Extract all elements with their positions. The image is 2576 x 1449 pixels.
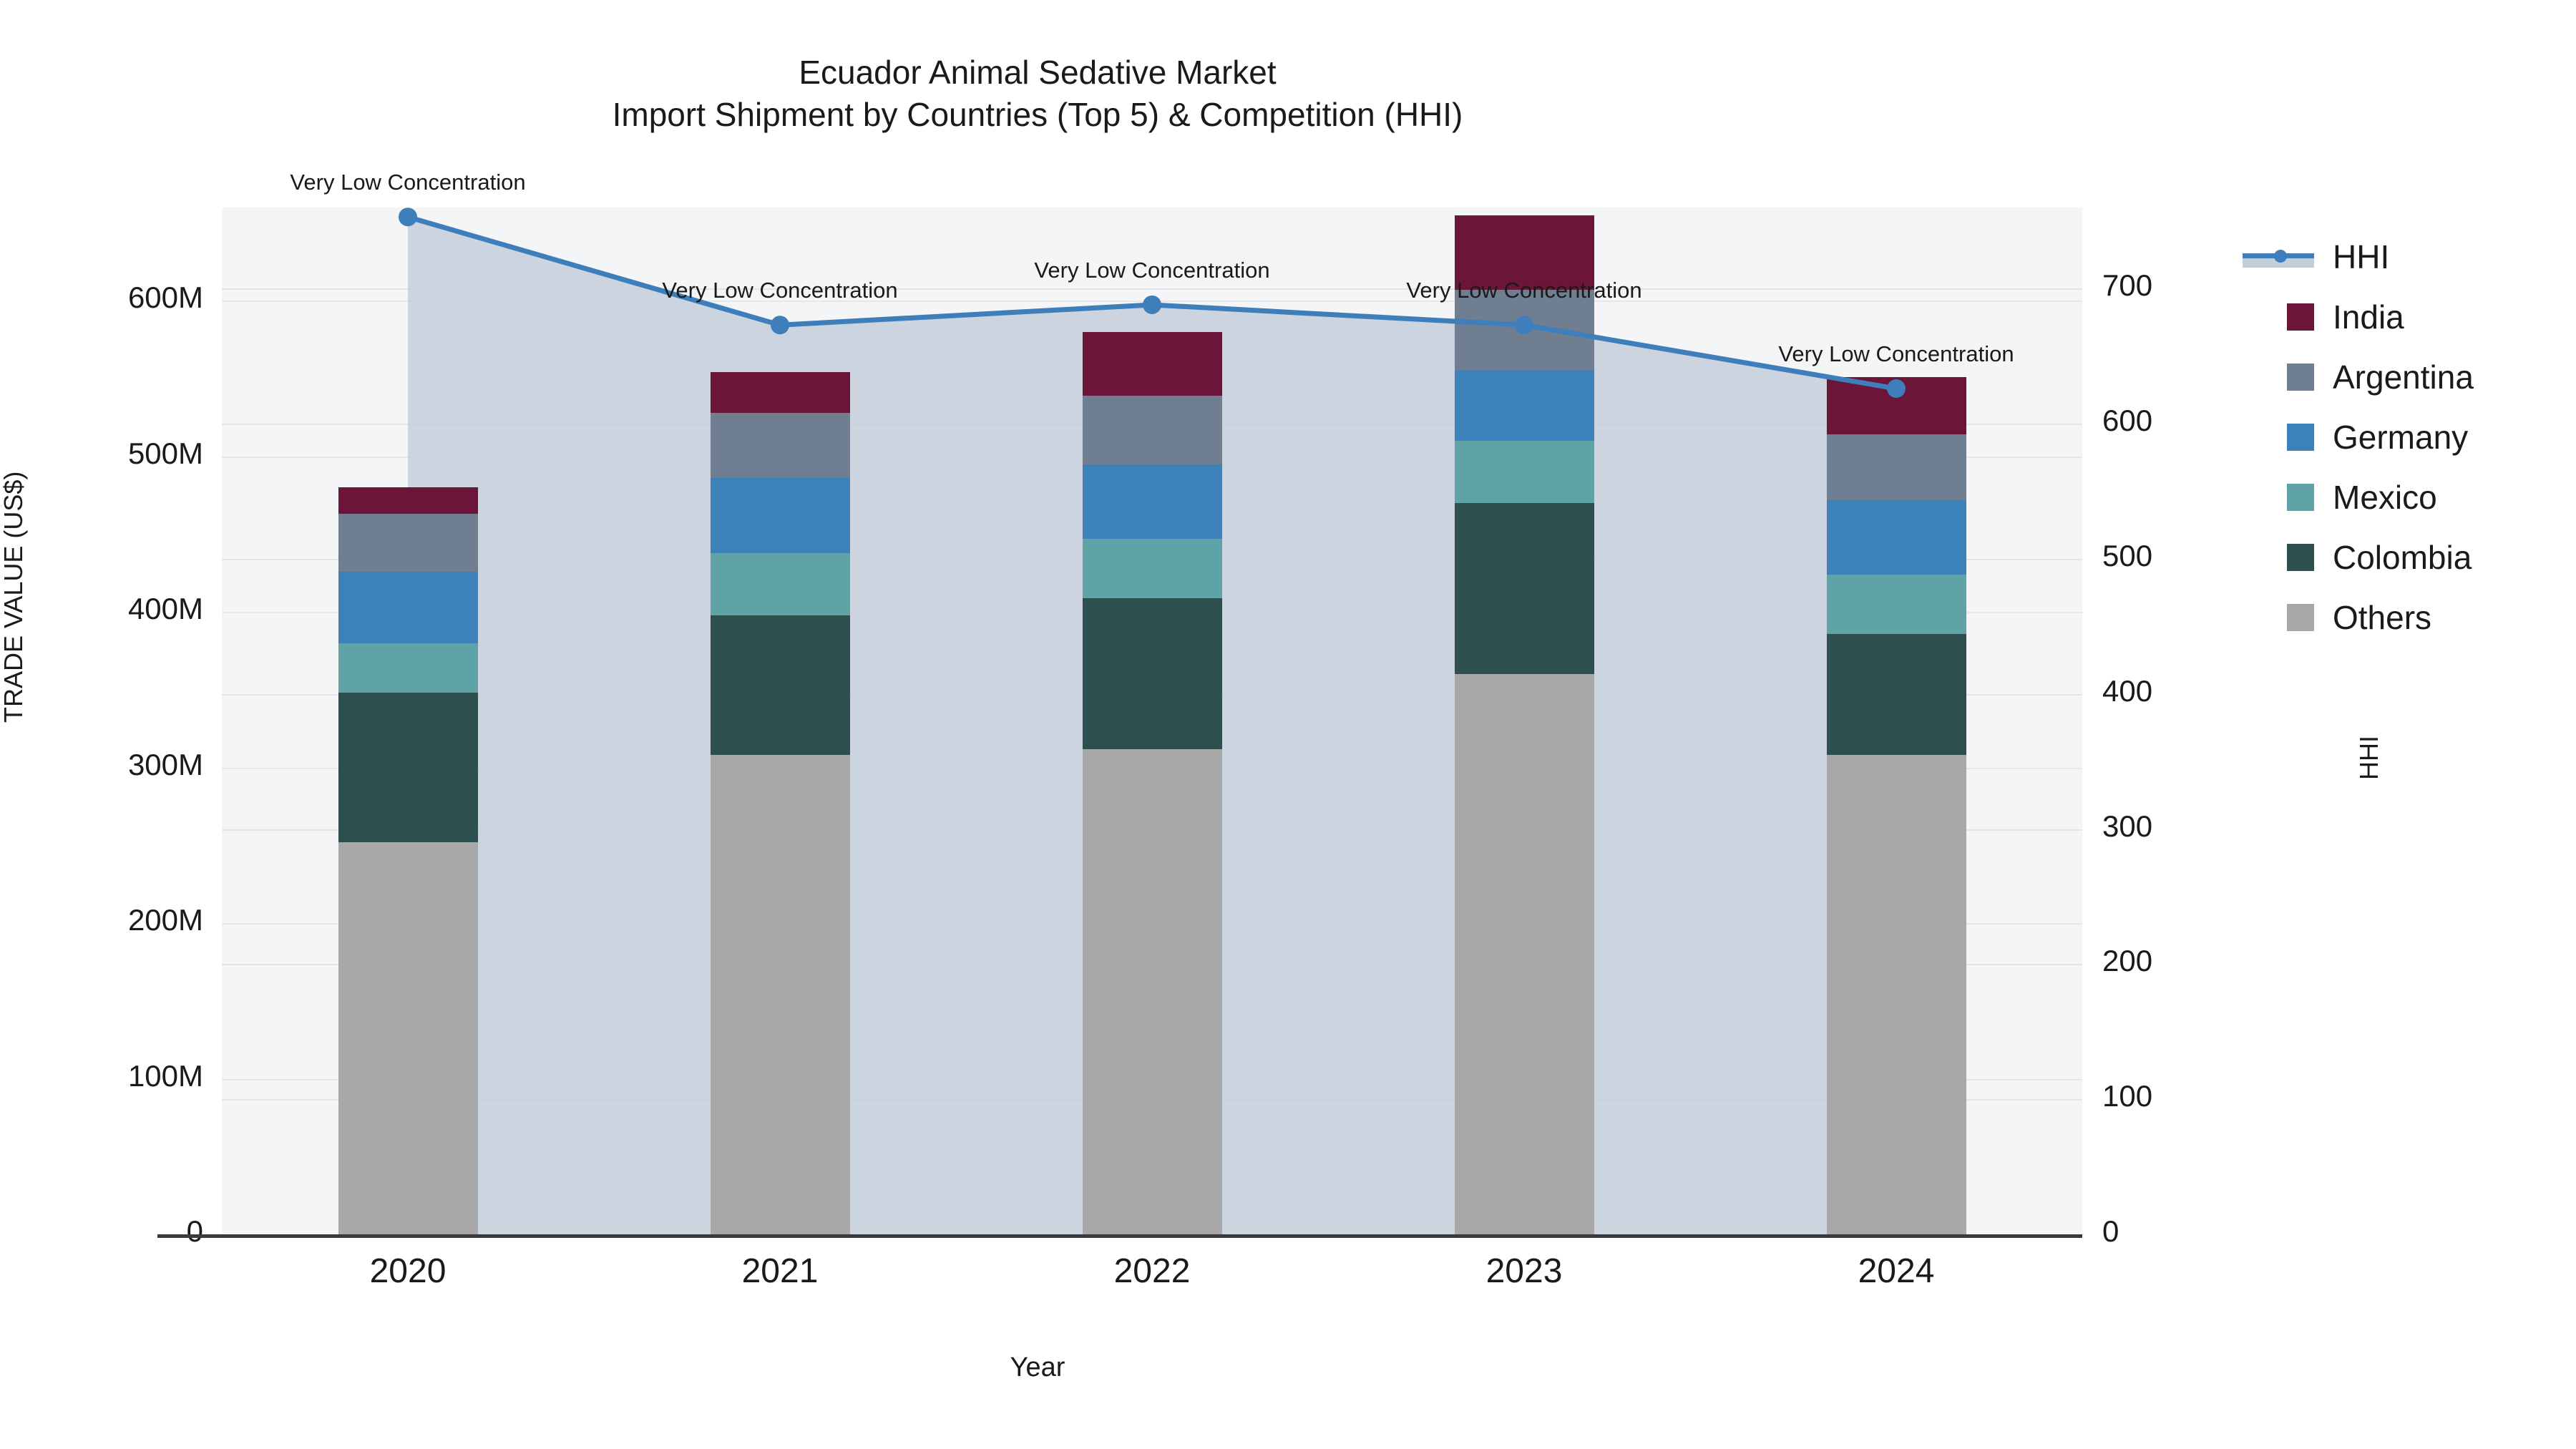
y-tick-left: 600M (128, 280, 203, 315)
legend-label: Germany (2333, 418, 2468, 457)
x-tick-2020: 2020 (370, 1252, 447, 1291)
y-tick-right: 300 (2102, 809, 2152, 844)
annotation-2023: Very Low Concentration (1406, 278, 1641, 303)
legend-label: Mexico (2333, 478, 2437, 517)
y-tick-left: 500M (128, 436, 203, 471)
chart-title-line-1: Ecuador Animal Sedative Market (799, 54, 1276, 91)
annotation-2022: Very Low Concentration (1034, 258, 1269, 283)
y-tick-right: 500 (2102, 539, 2152, 573)
legend-label: Colombia (2333, 538, 2472, 577)
hhi-point[interactable] (771, 316, 789, 334)
legend-line-marker (2243, 243, 2314, 270)
y-tick-right: 600 (2102, 404, 2152, 438)
x-axis-line (157, 1234, 2082, 1238)
x-tick-2021: 2021 (742, 1252, 819, 1291)
legend-item-germany[interactable]: Germany (2265, 416, 2572, 458)
legend-swatch (2287, 604, 2314, 631)
y-axis-right-label: HHI (2354, 736, 2384, 780)
chart-title-line-2: Import Shipment by Countries (Top 5) & C… (613, 96, 1463, 133)
legend-swatch (2287, 484, 2314, 511)
plot-area: Very Low ConcentrationVery Low Concentra… (222, 208, 2082, 1234)
y-tick-right: 100 (2102, 1079, 2152, 1113)
chart-legend: HHIIndiaArgentinaGermanyMexicoColombiaOt… (2265, 236, 2572, 657)
y-tick-left: 200M (128, 903, 203, 937)
legend-label: Others (2333, 598, 2431, 637)
x-tick-2022: 2022 (1114, 1252, 1191, 1291)
y-axis-left-label: TRADE VALUE (US$) (0, 472, 29, 723)
legend-item-argentina[interactable]: Argentina (2265, 356, 2572, 398)
y-tick-right: 700 (2102, 268, 2152, 303)
x-tick-2024: 2024 (1858, 1252, 1935, 1291)
y-tick-left: 300M (128, 748, 203, 782)
hhi-point[interactable] (1143, 296, 1161, 314)
y-tick-left: 100M (128, 1059, 203, 1093)
legend-swatch (2287, 303, 2314, 331)
hhi-point[interactable] (1515, 316, 1533, 334)
y-tick-right: 400 (2102, 674, 2152, 708)
legend-swatch (2287, 544, 2314, 571)
legend-item-colombia[interactable]: Colombia (2265, 537, 2572, 578)
x-axis-label: Year (0, 1352, 2075, 1383)
legend-label: HHI (2333, 238, 2389, 276)
chart-title: Ecuador Animal Sedative MarketImport Shi… (0, 52, 2075, 136)
legend-item-hhi[interactable]: HHI (2265, 236, 2572, 278)
legend-item-mexico[interactable]: Mexico (2265, 477, 2572, 518)
annotation-2024: Very Low Concentration (1778, 341, 2014, 367)
y-tick-right: 200 (2102, 944, 2152, 978)
legend-swatch (2287, 364, 2314, 391)
x-tick-2023: 2023 (1486, 1252, 1563, 1291)
hhi-point[interactable] (399, 208, 417, 226)
annotation-2021: Very Low Concentration (662, 278, 897, 303)
y-tick-left: 400M (128, 592, 203, 626)
legend-item-india[interactable]: India (2265, 296, 2572, 338)
hhi-point[interactable] (1887, 379, 1906, 398)
legend-swatch (2287, 424, 2314, 451)
chart-figure: Ecuador Animal Sedative MarketImport Shi… (0, 0, 2576, 1449)
legend-item-others[interactable]: Others (2265, 597, 2572, 638)
legend-label: India (2333, 298, 2404, 336)
legend-label: Argentina (2333, 358, 2474, 396)
y-tick-left: 0 (187, 1214, 203, 1249)
y-tick-right: 0 (2102, 1214, 2119, 1249)
annotation-2020: Very Low Concentration (290, 170, 525, 195)
